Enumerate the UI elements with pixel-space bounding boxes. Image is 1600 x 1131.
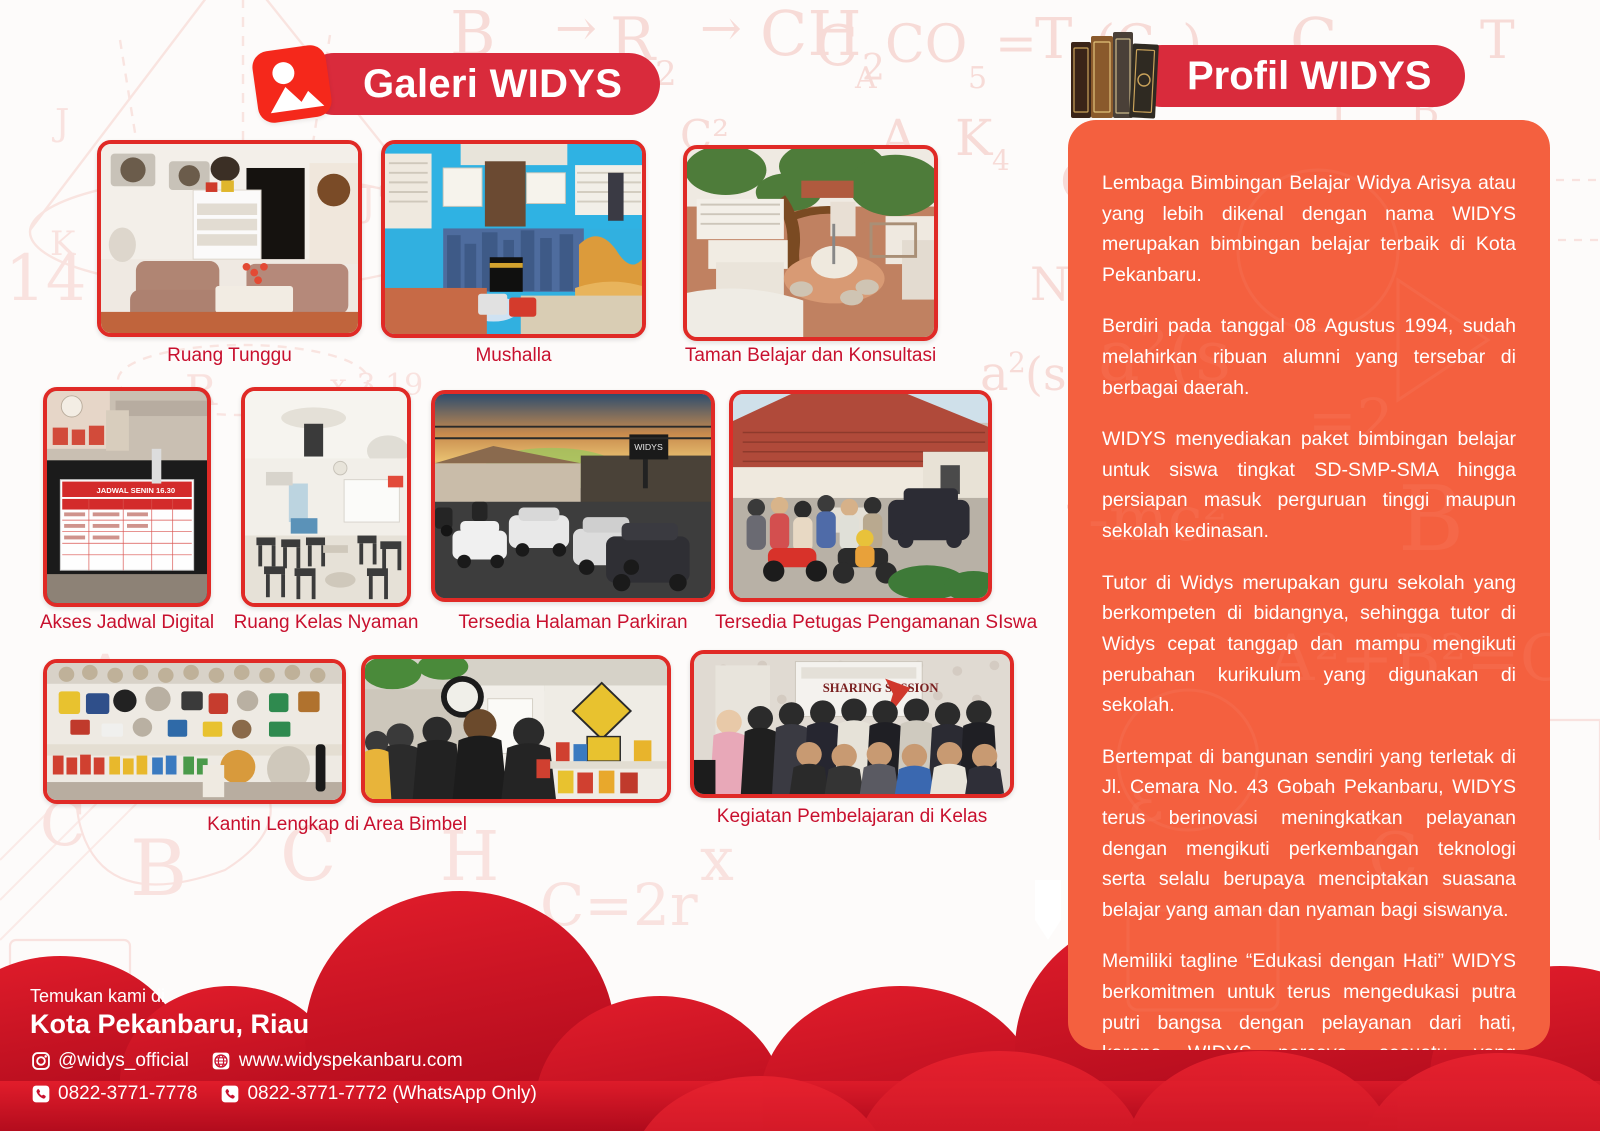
phone-row: 0822-3771-7778 0822-3771-7772 (WhatsApp … [30, 1079, 537, 1109]
poster-page: B R K' J' R x 3,19 K A 14 J B R [0, 0, 1600, 1131]
website-url[interactable]: www.widyspekanbaru.com [239, 1046, 463, 1076]
gallery-photo-kantin-siswa[interactable] [361, 655, 671, 803]
gallery-photo-ruang-kelas[interactable] [241, 387, 411, 607]
image-icon [250, 43, 333, 125]
gallery-photo-mushalla[interactable] [381, 140, 646, 338]
phone-number-1[interactable]: 0822-3771-7778 [58, 1079, 197, 1109]
gallery-caption-0: Ruang Tunggu [97, 345, 362, 367]
divider-notch [1035, 880, 1061, 940]
gallery-photo-ruang-tunggu[interactable] [97, 140, 362, 337]
gallery-photo-pengamanan[interactable] [729, 390, 992, 602]
gallery-title: Galeri WIDYS [363, 62, 622, 107]
svg-text:JADWAL SENIN 16.30: JADWAL SENIN 16.30 [97, 486, 176, 495]
svg-text:WIDYS: WIDYS [634, 442, 663, 452]
profile-title-pill: Profil WIDYS [1131, 45, 1465, 107]
gallery-caption-2: Taman Belajar dan Konsultasi [658, 345, 963, 367]
gallery-photo-kantin[interactable] [43, 659, 346, 804]
gallery-photo-jadwal-digital[interactable]: JADWAL SENIN 16.30 [43, 387, 211, 607]
gallery-header: Galeri WIDYS [255, 52, 660, 116]
profile-header: Profil WIDYS [1065, 30, 1465, 122]
social-row: @widys_official www.widyspekanbaru.com [30, 1046, 537, 1076]
find-us-label: Temukan kami di [30, 985, 537, 1008]
gallery-photo-parkiran[interactable]: WIDYS [431, 390, 715, 602]
profile-paragraph-4: Bertempat di bangunan sendiri yang terle… [1102, 742, 1516, 926]
profile-paragraph-5: Memiliki tagline “Edukasi dengan Hati” W… [1102, 946, 1516, 1050]
profile-text-card: a²(s =2 B -mc² A²+B²=C² ε C Lembaga Bimb… [1068, 120, 1550, 1050]
phone-icon [30, 1083, 51, 1104]
profile-paragraph-3: Tutor di Widys merupakan guru sekolah ya… [1102, 568, 1516, 721]
gallery-photo-taman[interactable] [683, 145, 938, 341]
svg-text:SHARING SESSION: SHARING SESSION [823, 681, 939, 695]
profile-paragraph-1: Berdiri pada tanggal 08 Agustus 1994, su… [1102, 311, 1516, 403]
profile-section: Profil WIDYS a²(s =2 B -mc² A²+B²=C² ε C [1040, 0, 1600, 1131]
footer-contact: Temukan kami di Kota Pekanbaru, Riau @wi… [30, 985, 537, 1109]
gallery-caption-7: Kantin Lengkap di Area Bimbel [150, 814, 524, 836]
gallery-caption-5: Tersedia Halaman Parkiran [431, 612, 715, 634]
instagram-handle[interactable]: @widys_official [58, 1046, 189, 1076]
city-label: Kota Pekanbaru, Riau [30, 1007, 537, 1042]
phone-number-2[interactable]: 0822-3771-7772 (WhatsApp Only) [247, 1079, 536, 1109]
profile-paragraph-2: WIDYS menyediakan paket bimbingan belaja… [1102, 424, 1516, 546]
gallery-photo-pembelajaran[interactable]: SHARING SESSION [690, 650, 1014, 798]
gallery-section: Galeri WIDYS [0, 0, 1045, 1131]
gallery-caption-4: Ruang Kelas Nyaman [225, 612, 427, 634]
books-icon [1065, 30, 1161, 122]
whatsapp-phone-icon [219, 1083, 240, 1104]
gallery-caption-6: Tersedia Petugas Pengamanan SIswa [715, 612, 1021, 634]
gallery-caption-3: Akses Jadwal Digital [26, 612, 228, 634]
profile-title: Profil WIDYS [1187, 54, 1431, 99]
profile-paragraph-0: Lembaga Bimbingan Belajar Widya Arisya a… [1102, 168, 1516, 290]
globe-icon [211, 1051, 232, 1072]
gallery-caption-9: Kegiatan Pembelajaran di Kelas [690, 806, 1014, 828]
gallery-caption-1: Mushalla [381, 345, 646, 367]
instagram-icon [30, 1051, 51, 1072]
profile-body: Lembaga Bimbingan Belajar Widya Arisya a… [1068, 120, 1550, 1050]
gallery-title-pill: Galeri WIDYS [303, 53, 660, 115]
